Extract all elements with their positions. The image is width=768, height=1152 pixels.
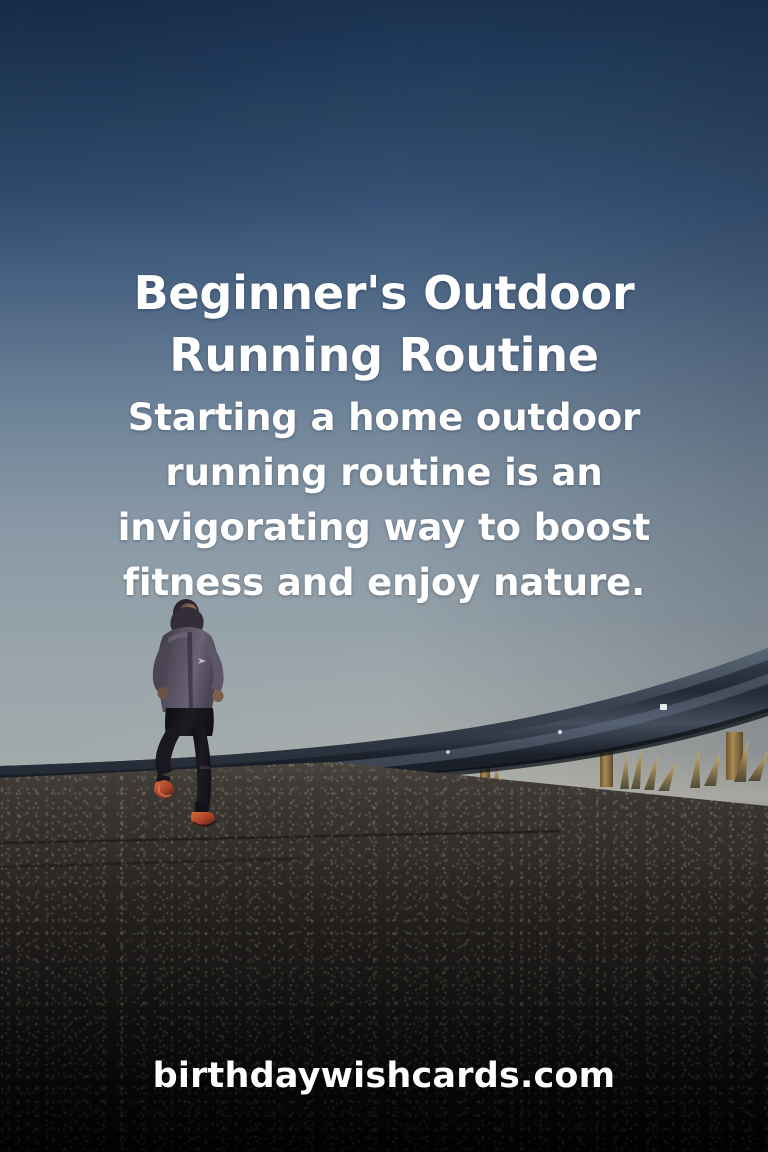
road-shadow-falloff	[0, 852, 768, 1152]
page-subtitle: Starting a home outdoor running routine …	[36, 390, 732, 610]
runner-svg	[136, 596, 252, 828]
site-url: birthdaywishcards.com	[153, 1056, 616, 1096]
runner-jacket	[153, 627, 224, 714]
page-title: Beginner's Outdoor Running Routine	[36, 262, 732, 386]
runner-planted-leg	[191, 728, 215, 827]
footer: birthdaywishcards.com	[0, 1056, 768, 1096]
runner-figure	[136, 596, 252, 828]
text-overlay: Beginner's Outdoor Running Routine Start…	[0, 262, 768, 610]
runner-leg-highlight	[200, 766, 210, 769]
runner-lifted-leg	[154, 728, 182, 799]
poster-canvas: Beginner's Outdoor Running Routine Start…	[0, 0, 768, 1152]
